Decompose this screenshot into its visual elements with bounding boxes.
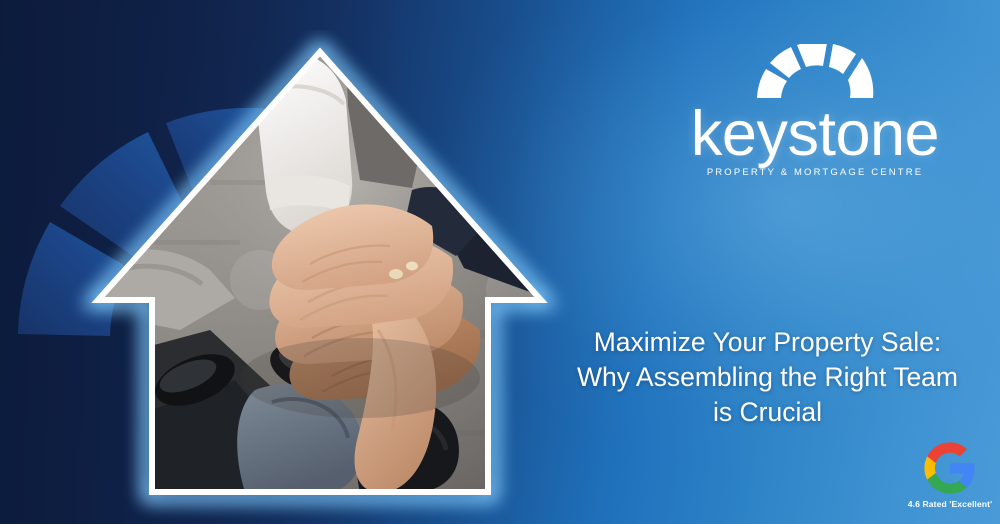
keystone-arch-icon: [755, 44, 875, 102]
logo-tagline: PROPERTY & MORTGAGE CENTRE: [670, 167, 960, 178]
house-photo-frame: [60, 30, 580, 524]
marketing-banner: keystone PROPERTY & MORTGAGE CENTRE Maxi…: [0, 0, 1000, 524]
google-rating-text: 4.6 Rated 'Excellent': [903, 499, 997, 509]
google-g-icon: [922, 440, 978, 496]
google-rating-badge[interactable]: 4.6 Rated 'Excellent': [903, 440, 997, 509]
page-title: Maximize Your Property Sale: Why Assembl…: [545, 325, 990, 430]
headline-line-3: is Crucial: [545, 395, 990, 430]
headline-line-2: Why Assembling the Right Team: [545, 360, 990, 395]
keystone-logo[interactable]: keystone PROPERTY & MORTGAGE CENTRE: [670, 44, 960, 184]
logo-wordmark: keystone: [670, 104, 960, 164]
headline-line-1: Maximize Your Property Sale:: [545, 325, 990, 360]
photo-content: [60, 30, 580, 524]
house-photo-mask: [60, 30, 580, 524]
